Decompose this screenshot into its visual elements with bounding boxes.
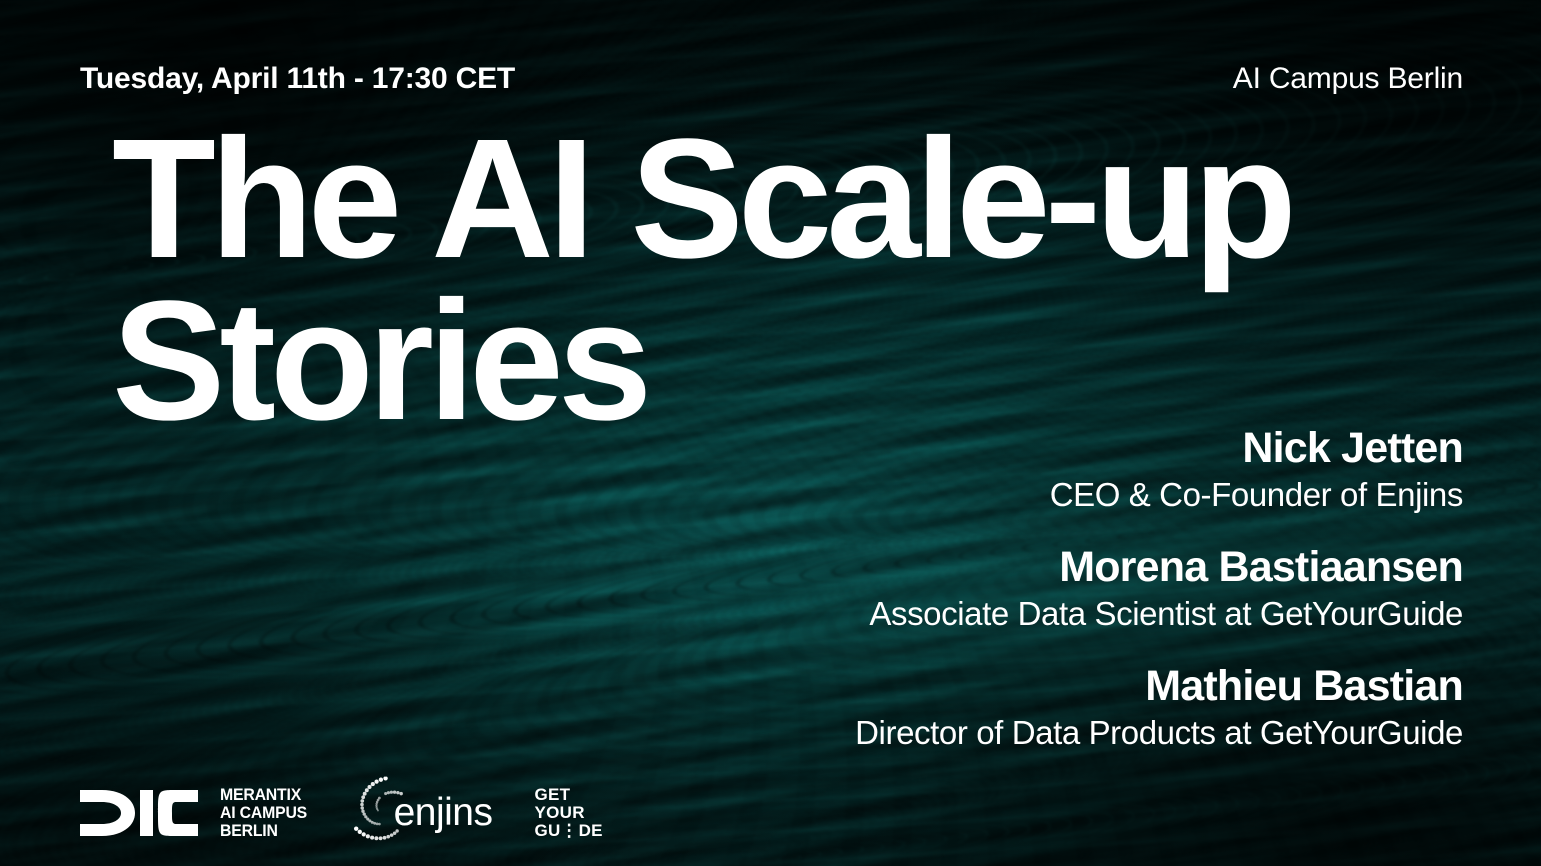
event-datetime: Tuesday, April 11th - 17:30 CET xyxy=(80,62,515,96)
banner-content: Tuesday, April 11th - 17:30 CET AI Campu… xyxy=(0,0,1541,866)
speaker-list: Nick Jetten CEO & Co-Founder of Enjins M… xyxy=(703,424,1463,752)
event-venue: AI Campus Berlin xyxy=(1233,62,1463,96)
title-line-1: The AI Scale-up xyxy=(112,118,1291,280)
merantix-wordmark-line-1: MERANTIX xyxy=(220,786,307,804)
speaker-name: Nick Jetten xyxy=(703,424,1463,472)
event-banner: Tuesday, April 11th - 17:30 CET AI Campu… xyxy=(0,0,1541,866)
getyourguide-line-1: GET xyxy=(535,786,603,804)
getyourguide-line-3: GU⋮DE xyxy=(535,822,603,840)
getyourguide-colon-glyph: ⋮ xyxy=(561,821,579,840)
title-line-2: Stories xyxy=(112,280,1291,442)
sponsor-logo-bar: MERANTIX AI CAMPUS BERLIN enjins GET YOU… xyxy=(80,786,603,840)
speaker-name: Mathieu Bastian xyxy=(703,662,1463,710)
speaker-role: Associate Data Scientist at GetYourGuide xyxy=(703,594,1463,634)
page-title: The AI Scale-up Stories xyxy=(112,118,1291,443)
getyourguide-line-3-prefix: GU xyxy=(535,821,561,840)
speaker-item: Mathieu Bastian Director of Data Product… xyxy=(703,662,1463,753)
speaker-role: CEO & Co-Founder of Enjins xyxy=(703,475,1463,515)
speaker-name: Morena Bastiaansen xyxy=(703,543,1463,591)
merantix-wordmark-line-2: AI CAMPUS xyxy=(220,804,307,822)
merantix-wordmark: MERANTIX AI CAMPUS BERLIN xyxy=(220,786,307,840)
speaker-item: Nick Jetten CEO & Co-Founder of Enjins xyxy=(703,424,1463,515)
logo-enjins: enjins xyxy=(356,793,493,832)
speaker-role: Director of Data Products at GetYourGuid… xyxy=(703,713,1463,753)
merantix-wordmark-line-3: BERLIN xyxy=(220,822,307,840)
getyourguide-line-2: YOUR xyxy=(535,804,603,822)
merantix-bracket-mark-icon xyxy=(80,788,198,838)
speaker-item: Morena Bastiaansen Associate Data Scient… xyxy=(703,543,1463,634)
getyourguide-line-3-suffix: DE xyxy=(579,821,603,840)
enjins-dotted-swirl-icon xyxy=(350,777,420,847)
logo-getyourguide: GET YOUR GU⋮DE xyxy=(535,786,603,839)
logo-merantix-ai-campus-berlin: MERANTIX AI CAMPUS BERLIN xyxy=(80,786,314,840)
